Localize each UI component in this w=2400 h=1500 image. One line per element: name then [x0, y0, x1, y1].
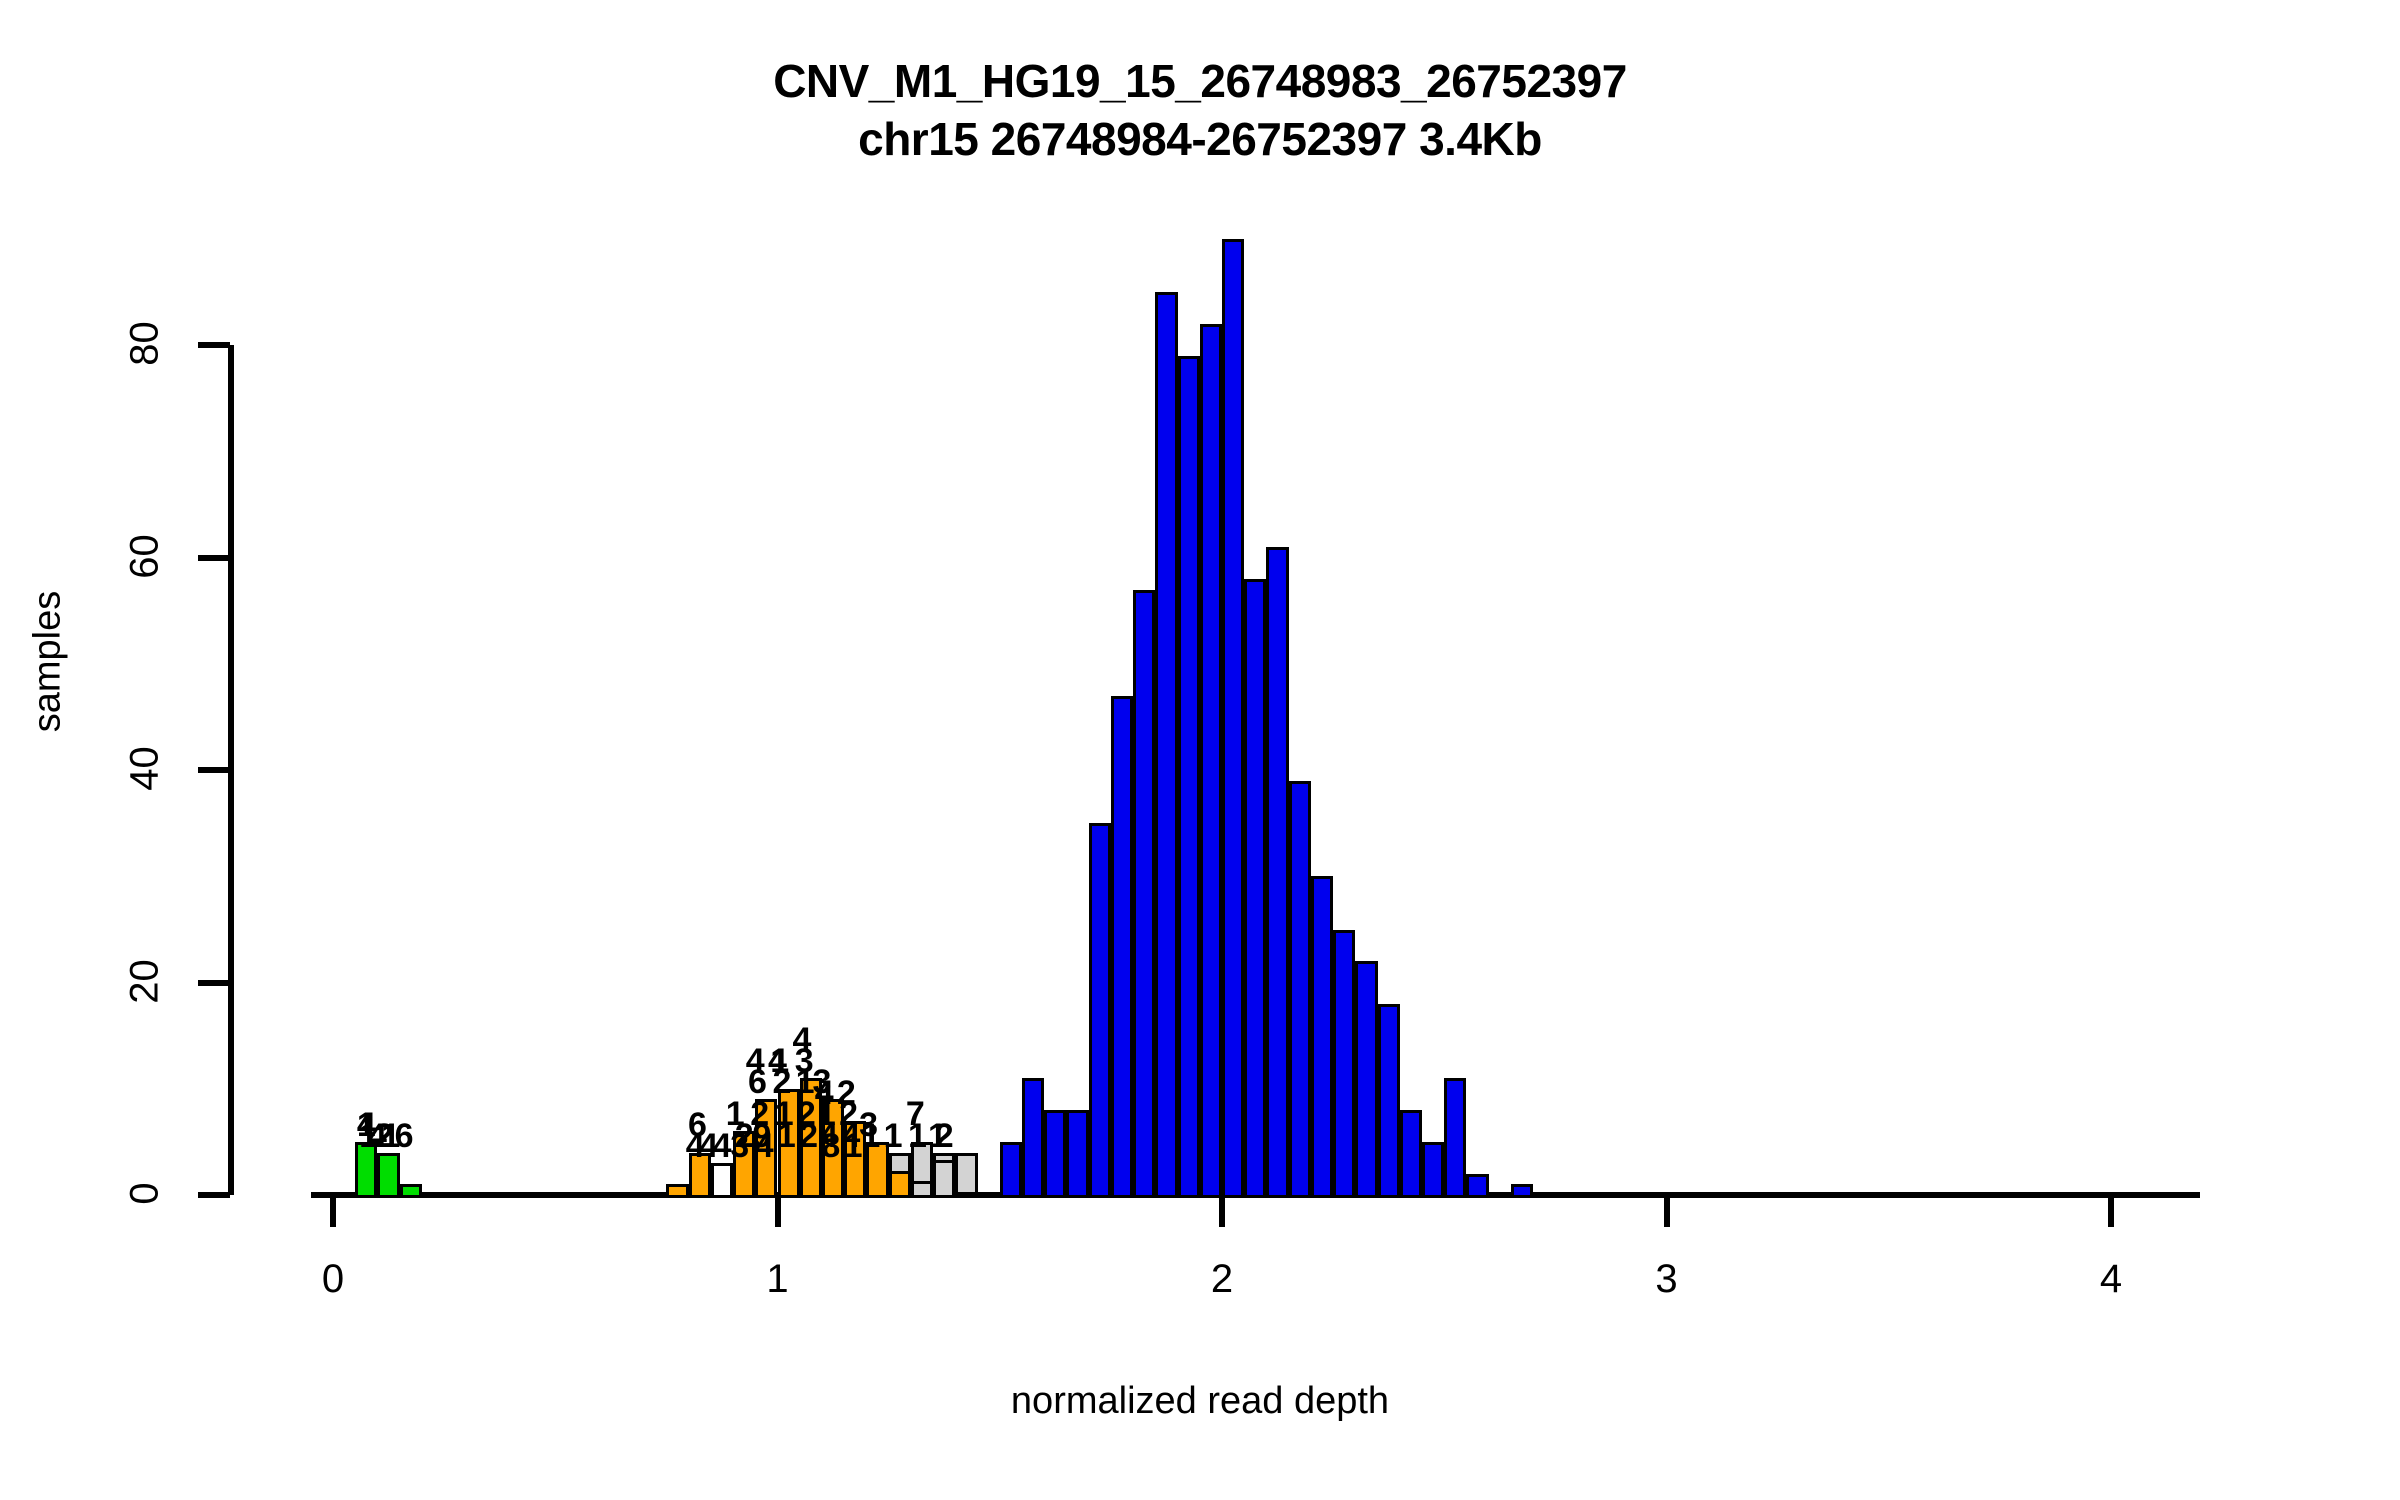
histogram-bar — [1378, 1004, 1400, 1198]
x-tick-mark — [330, 1195, 336, 1227]
bar-count-label: 1 — [884, 1119, 903, 1153]
bar-count-label: 2 — [935, 1119, 954, 1153]
y-tick-label: 80 — [123, 299, 168, 389]
histogram-bar — [1089, 823, 1111, 1198]
bar-count-label: 8 — [821, 1129, 840, 1163]
histogram-bar — [1311, 876, 1333, 1198]
histogram-bar — [1266, 547, 1288, 1198]
histogram-bar — [1000, 1142, 1022, 1198]
x-axis-label: normalized read depth — [0, 1380, 2400, 1423]
chart-title-line2: chr15 26748984-26752397 3.4Kb — [0, 110, 2400, 168]
histogram-bar — [1022, 1078, 1044, 1198]
histogram-bar — [1289, 781, 1311, 1198]
y-tick-label: 0 — [123, 1149, 168, 1239]
histogram-bar — [1066, 1110, 1088, 1198]
histogram-bar-grey-segment — [955, 1153, 977, 1195]
bar-count-label: 2 — [799, 1119, 818, 1153]
histogram-bar — [1222, 239, 1244, 1198]
chart-title-line1: CNV_M1_HG19_15_26748983_26752397 — [773, 55, 1627, 107]
bar-count-label: 3 — [730, 1129, 749, 1163]
chart-title: CNV_M1_HG19_15_26748983_26752397chr15 26… — [0, 52, 2400, 168]
histogram-bar — [1511, 1184, 1533, 1198]
bar-count-label: 1 — [908, 1119, 927, 1153]
bar-count-label: 4 — [712, 1129, 731, 1163]
histogram-bar — [400, 1184, 422, 1198]
y-axis-label: samples — [27, 532, 70, 792]
histogram-bar — [1444, 1078, 1466, 1198]
histogram-bar — [1178, 356, 1200, 1198]
histogram-bar — [1133, 590, 1155, 1198]
x-tick-mark — [1664, 1195, 1670, 1227]
x-tick-label: 4 — [2100, 1257, 2122, 1302]
x-tick-label: 1 — [766, 1257, 788, 1302]
x-tick-label: 0 — [322, 1257, 344, 1302]
y-tick-mark — [198, 980, 230, 986]
x-tick-mark — [1219, 1195, 1225, 1227]
histogram-bar-grey-segment — [889, 1153, 911, 1174]
y-tick-mark — [198, 555, 230, 561]
bar-count-label: 1 — [861, 1119, 880, 1153]
histogram-bar — [711, 1163, 733, 1198]
histogram-bar — [1400, 1110, 1422, 1198]
histogram-bar — [1422, 1142, 1444, 1198]
histogram-bar — [1111, 696, 1133, 1198]
y-tick-label: 40 — [123, 724, 168, 814]
histogram-plot: CNV_M1_HG19_15_26748983_26752397chr15 26… — [0, 0, 2400, 1500]
y-tick-mark — [198, 767, 230, 773]
x-tick-label: 2 — [1211, 1257, 1233, 1302]
histogram-bar — [1333, 930, 1355, 1199]
x-tick-label: 3 — [1655, 1257, 1677, 1302]
x-tick-mark — [775, 1195, 781, 1227]
bar-count-label: 1 — [777, 1119, 796, 1153]
bar-count-label: 6 — [395, 1119, 414, 1153]
histogram-bar — [1244, 579, 1266, 1198]
histogram-bar — [1044, 1110, 1066, 1198]
y-tick-label: 60 — [123, 511, 168, 601]
x-tick-mark — [2108, 1195, 2114, 1227]
histogram-bar — [1155, 292, 1177, 1198]
histogram-bar — [1200, 324, 1222, 1198]
bar-count-label: 4 — [755, 1129, 774, 1163]
histogram-bar — [1466, 1174, 1488, 1198]
histogram-bar — [666, 1184, 688, 1198]
histogram-bar — [377, 1153, 399, 1198]
histogram-bar — [1355, 961, 1377, 1198]
y-tick-label: 20 — [123, 936, 168, 1026]
y-tick-mark — [198, 342, 230, 348]
y-tick-mark — [198, 1192, 230, 1198]
